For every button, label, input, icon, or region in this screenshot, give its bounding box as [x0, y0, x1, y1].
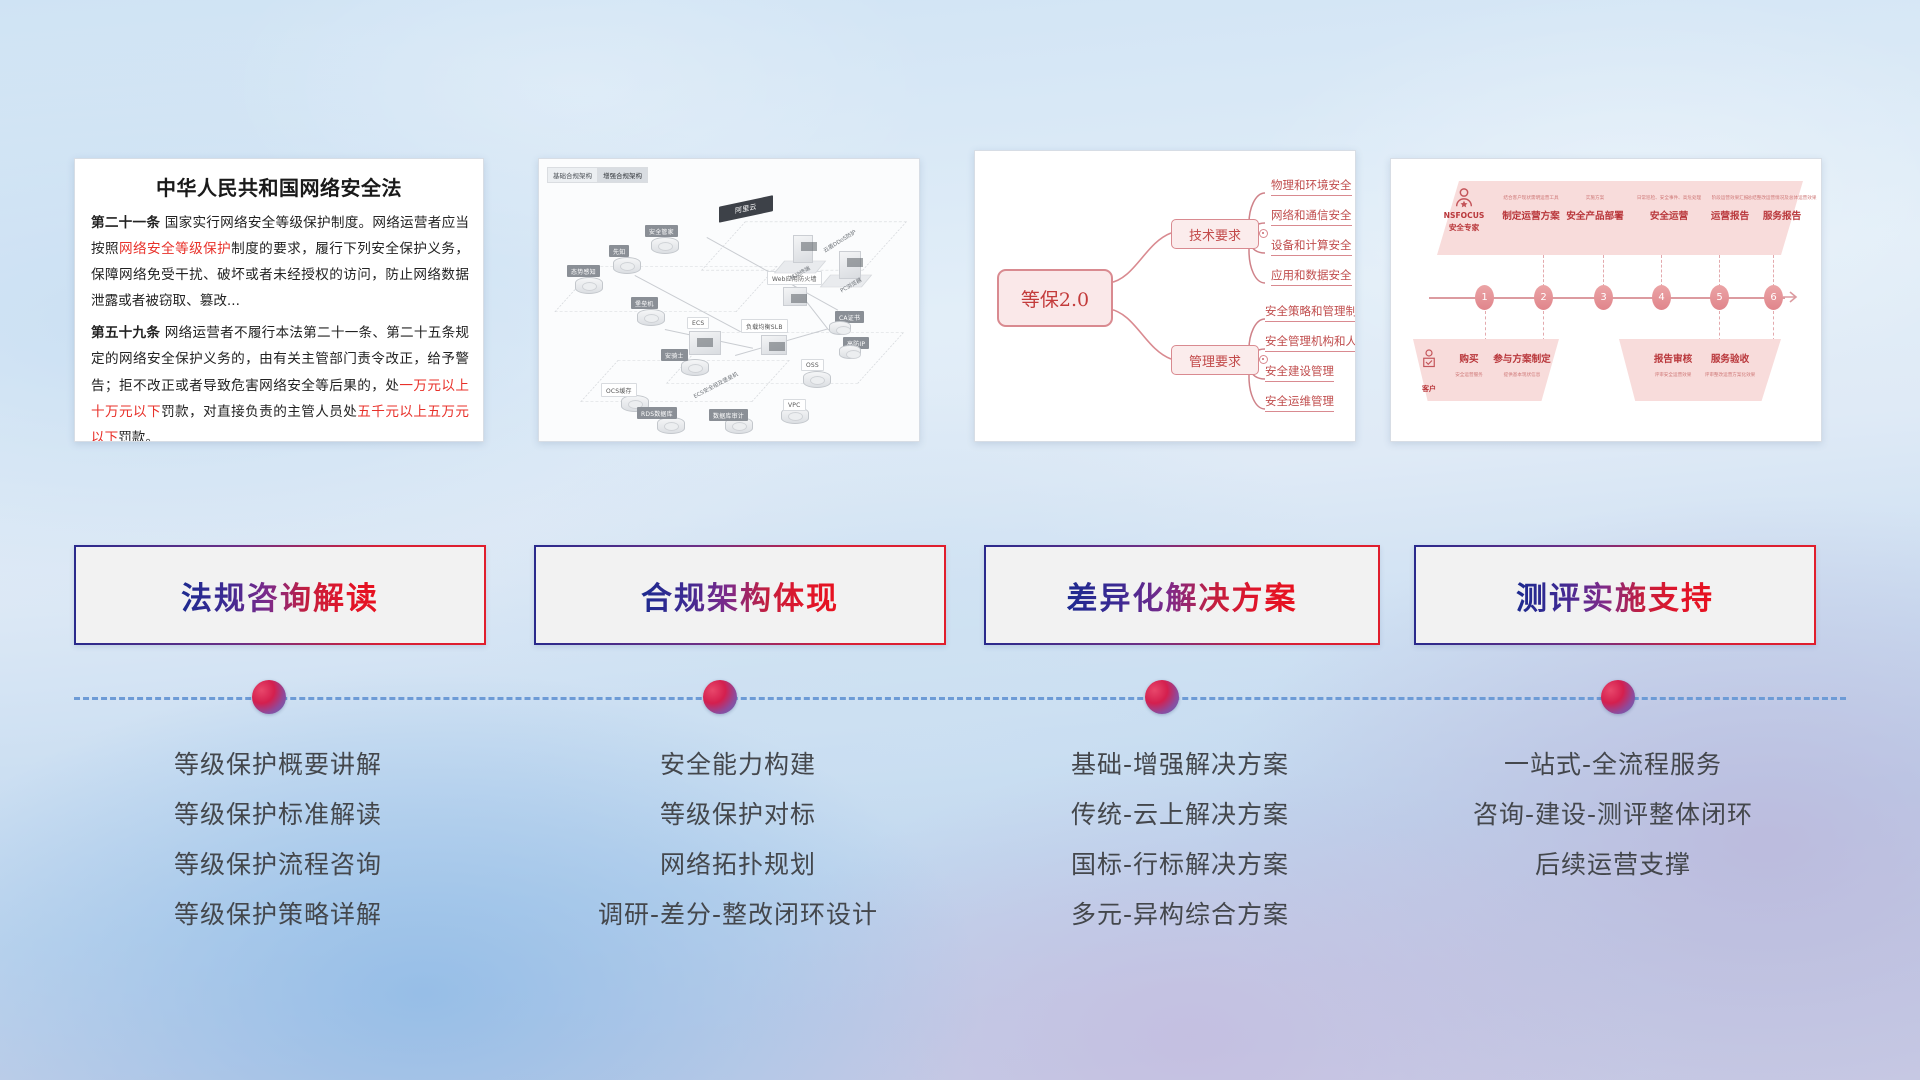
arch-label-vpc: VPC [783, 399, 806, 411]
arch-label-ocs: OCS缓存 [601, 383, 637, 397]
process-top-step-2[interactable]: 实施方案 安全产品部署 [1551, 195, 1639, 222]
list-item: 安全能力构建 [534, 740, 942, 790]
process-top-step-2-title: 安全产品部署 [1551, 208, 1639, 222]
mindmap-leaf-construction-mgmt[interactable]: 安全建设管理 [1265, 363, 1334, 382]
process-brand-line-1: NSFOCUS [1435, 211, 1493, 221]
arch-label-bastion: 堡垒机 [631, 297, 658, 309]
process-tick-down-5 [1719, 311, 1721, 341]
mindmap-leaf-policy-system[interactable]: 安全策略和管理制度 [1265, 303, 1356, 322]
law-article-59-label: 第五十九条 [91, 325, 160, 341]
heading-box-evaluation-support[interactable]: 测评实施支持 [1414, 545, 1816, 645]
law-article-59-text-after: 罚款。 [118, 430, 159, 442]
detail-column-differentiated-solution: 基础-增强解决方案 传统-云上解决方案 国标-行标解决方案 多元-异构综合方案 [984, 740, 1376, 940]
heading-row: 法规咨询解读 合规架构体现 差异化解决方案 测评实施支持 [0, 545, 1920, 657]
process-step-number-1[interactable]: 1 [1475, 285, 1494, 310]
timeline-dot-3[interactable] [1145, 680, 1179, 714]
process-bottom-step-2-sub: 提供基本现状信息 [1491, 372, 1553, 378]
process-bottom-step-1-title: 购买 [1447, 351, 1491, 365]
process-tick-down-6 [1773, 311, 1775, 341]
list-item: 网络拓扑规划 [534, 840, 942, 890]
law-article-21: 第二十一条 国家实行网络安全等级保护制度。网络运营者应当按照网络安全等级保护制度… [91, 210, 469, 314]
process-step-number-2[interactable]: 2 [1534, 285, 1553, 310]
arch-label-situational-awareness: 态势感知 [567, 265, 600, 277]
arch-node-ecs-icon [689, 331, 721, 355]
mindmap-leaf-org-personnel[interactable]: 安全管理机构和人员 [1265, 333, 1356, 352]
timeline-dot-1[interactable] [252, 680, 286, 714]
detail-column-regulation-consulting: 等级保护概要讲解 等级保护标准解读 等级保护流程咨询 等级保护策略详解 [74, 740, 482, 940]
arch-node-slb-icon [761, 335, 787, 355]
mindmap-root-node[interactable]: 等保2.0 [997, 269, 1113, 327]
timeline-dot-4[interactable] [1601, 680, 1635, 714]
heading-label-differentiated-solution: 差异化解决方案 [1067, 573, 1298, 618]
customer-person-icon [1420, 349, 1438, 369]
process-bottom-step-4[interactable]: 服务验收 评审整改运营方案化效果 [1699, 351, 1761, 378]
mindmap-leaf-network-comm[interactable]: 网络和通信安全 [1271, 207, 1352, 226]
process-bottom-step-4-title: 服务验收 [1699, 351, 1761, 365]
thumbnail-row: 中华人民共和国网络安全法 第二十一条 国家实行网络安全等级保护制度。网络运营者应… [0, 0, 1920, 460]
heading-box-differentiated-solution[interactable]: 差异化解决方案 [984, 545, 1380, 645]
law-article-59: 第五十九条 网络运营者不履行本法第二十一条、第二十五条规定的网络安全保护义务的，… [91, 320, 469, 442]
process-tick-4 [1661, 255, 1663, 287]
arch-node-xianzhi-icon [613, 257, 641, 274]
heading-label-evaluation-support: 测评实施支持 [1516, 573, 1714, 618]
arch-node-waf-icon [783, 287, 807, 306]
detail-columns: 等级保护概要讲解 等级保护标准解读 等级保护流程咨询 等级保护策略详解 安全能力… [0, 740, 1920, 990]
arch-node-pc-browser-icon [839, 251, 861, 279]
process-step-number-5[interactable]: 5 [1710, 285, 1729, 310]
process-top-step-5-sub: 总结整改运营情况及总体运营效果 [1743, 195, 1821, 201]
process-tick-5 [1719, 255, 1721, 287]
list-item: 等级保护标准解读 [74, 790, 482, 840]
detail-column-evaluation-support: 一站式-全流程服务 咨询-建设-测评整体闭环 后续运营支撑 [1414, 740, 1812, 890]
process-tick-2 [1543, 255, 1545, 287]
mindmap-leaf-device-compute[interactable]: 设备和计算安全 [1271, 237, 1352, 256]
slide-stage: 中华人民共和国网络安全法 第二十一条 国家实行网络安全等级保护制度。网络运营者应… [0, 0, 1920, 1080]
process-top-step-5[interactable]: 总结整改运营情况及总体运营效果 服务报告 [1743, 195, 1821, 222]
tab-enhanced-architecture[interactable]: 增强合规架构 [597, 167, 648, 183]
process-thumbnail-card[interactable]: NSFOCUS 安全专家 结合客户现状需明运营工具 制定运营方案 实施方案 安全… [1390, 158, 1822, 442]
process-bottom-step-3-title: 报告审核 [1643, 351, 1703, 365]
arch-label-anqishi: 安骑士 [661, 349, 688, 361]
list-item: 等级保护对标 [534, 790, 942, 840]
list-item: 基础-增强解决方案 [984, 740, 1376, 790]
list-item: 等级保护策略详解 [74, 890, 482, 940]
list-item: 国标-行标解决方案 [984, 840, 1376, 890]
process-top-step-2-sub: 实施方案 [1551, 195, 1639, 201]
arch-label-xianzhi: 先知 [609, 245, 629, 257]
law-article-21-highlight: 网络安全等级保护 [119, 241, 231, 257]
expert-person-icon [1453, 187, 1475, 209]
process-axis-arrow-icon [1783, 290, 1801, 304]
mindmap-thumbnail-card[interactable]: 等保2.0 技术要求 管理要求 物理和环境安全 网络和通信安全 设备和计算安全 … [974, 150, 1356, 442]
arch-node-ca-icon [829, 321, 851, 335]
mindmap-leaf-ops-mgmt[interactable]: 安全运维管理 [1265, 393, 1334, 412]
law-thumbnail-card[interactable]: 中华人民共和国网络安全法 第二十一条 国家实行网络安全等级保护制度。网络运营者应… [74, 158, 484, 442]
arch-node-anti-ddos-ip-icon [839, 345, 861, 359]
law-title: 中华人民共和国网络安全法 [75, 172, 483, 201]
process-bottom-step-1-sub: 安全运营服务 [1447, 372, 1491, 378]
arch-node-situational-awareness-icon [575, 277, 603, 294]
list-item: 咨询-建设-测评整体闭环 [1414, 790, 1812, 840]
heading-box-regulation-consulting[interactable]: 法规咨询解读 [74, 545, 486, 645]
law-article-59-text-mid: 罚款，对直接负责的主管人员处 [161, 404, 357, 420]
arch-label-security-butler: 安全管家 [645, 225, 678, 237]
arch-node-bastion-icon [637, 309, 665, 326]
process-tick-6 [1773, 255, 1775, 287]
heading-box-compliance-architecture[interactable]: 合规架构体现 [534, 545, 946, 645]
mindmap-branch-technical[interactable]: 技术要求 [1171, 219, 1259, 249]
timeline [0, 680, 1920, 732]
arch-label-oss: OSS [801, 359, 824, 371]
process-step-number-3[interactable]: 3 [1594, 285, 1613, 310]
list-item: 等级保护概要讲解 [74, 740, 482, 790]
arch-node-anqishi-icon [681, 359, 709, 376]
process-bottom-step-3[interactable]: 报告审核 评审安全运营效果 [1643, 351, 1703, 378]
list-item: 一站式-全流程服务 [1414, 740, 1812, 790]
process-tick-3 [1603, 255, 1605, 287]
process-bottom-step-2[interactable]: 参与方案制定 提供基本现状信息 [1491, 351, 1553, 378]
arch-label-slb: 负载均衡SLB [741, 319, 788, 333]
list-item: 后续运营支撑 [1414, 840, 1812, 890]
list-item: 等级保护流程咨询 [74, 840, 482, 890]
process-customer-label: 客户 [1413, 385, 1445, 394]
arch-label-db-audit: 数据库审计 [709, 409, 748, 421]
process-top-step-5-title: 服务报告 [1743, 208, 1821, 222]
process-bottom-step-3-sub: 评审安全运营效果 [1643, 372, 1703, 378]
process-tick-down-1 [1485, 311, 1487, 341]
process-step-number-4[interactable]: 4 [1652, 285, 1671, 310]
arch-label-rds: RDS数据库 [637, 407, 677, 419]
mindmap-branch-technical-dot [1259, 229, 1268, 238]
arch-label-ecs: ECS [687, 317, 709, 329]
tab-basic-architecture[interactable]: 基础合规架构 [547, 167, 598, 183]
heading-label-compliance-architecture: 合规架构体现 [641, 573, 839, 618]
process-bottom-step-1[interactable]: 购买 安全运营服务 [1447, 351, 1491, 378]
arch-cloud-label: 阿里云 [719, 195, 773, 222]
process-bottom-step-2-title: 参与方案制定 [1491, 351, 1553, 365]
mindmap-branch-management[interactable]: 管理要求 [1171, 345, 1259, 375]
mindmap-leaf-physical-env[interactable]: 物理和环境安全 [1271, 177, 1352, 196]
architecture-thumbnail-card[interactable]: 基础合规架构 增强合规架构 阿里云 态势感知 先知 安全管家 堡垒机 [538, 158, 920, 442]
timeline-dot-2[interactable] [703, 680, 737, 714]
process-tick-down-2 [1543, 311, 1545, 341]
process-brand-line-2: 安全专家 [1435, 223, 1493, 233]
law-article-21-label: 第二十一条 [91, 215, 160, 231]
list-item: 多元-异构综合方案 [984, 890, 1376, 940]
detail-column-compliance-architecture: 安全能力构建 等级保护对标 网络拓扑规划 调研-差分-整改闭环设计 [534, 740, 942, 940]
arch-node-rds-icon [657, 417, 685, 434]
list-item: 传统-云上解决方案 [984, 790, 1376, 840]
arch-node-mobile-icon [793, 235, 813, 263]
process-step-number-6[interactable]: 6 [1764, 285, 1783, 310]
timeline-dashed-line [74, 697, 1846, 700]
arch-node-security-butler-icon [651, 237, 679, 254]
list-item: 调研-差分-整改闭环设计 [534, 890, 942, 940]
process-bottom-step-4-sub: 评审整改运营方案化效果 [1699, 372, 1761, 378]
mindmap-leaf-app-data[interactable]: 应用和数据安全 [1271, 267, 1352, 286]
law-body: 第二十一条 国家实行网络安全等级保护制度。网络运营者应当按照网络安全等级保护制度… [75, 210, 483, 442]
arch-node-oss-icon [803, 371, 831, 388]
heading-label-regulation-consulting: 法规咨询解读 [181, 573, 379, 618]
